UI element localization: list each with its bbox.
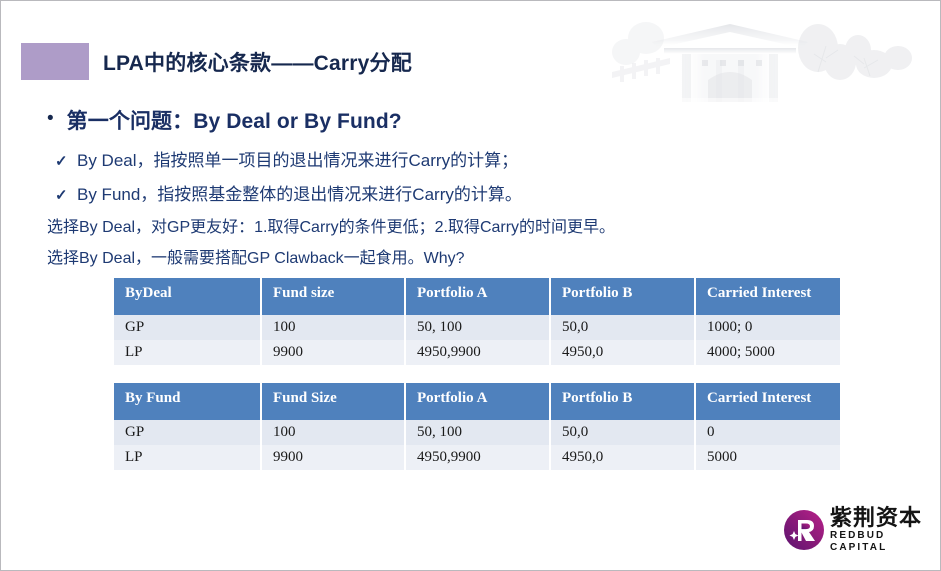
table-cell: 100 (261, 315, 405, 340)
brand-logo-text: 紫荆资本 REDBUD CAPITAL (830, 506, 934, 554)
column-header: Carried Interest (695, 278, 840, 315)
slide-canvas: LPA中的核心条款——Carry分配 • 第一个问题：By Deal or By… (0, 0, 941, 571)
table-row: LP 9900 4950,9900 4950,0 4000; 5000 (114, 340, 840, 365)
column-header: Fund Size (261, 383, 405, 420)
table-cell: 4950,0 (550, 445, 695, 470)
column-header: Portfolio B (550, 278, 695, 315)
table-header-row: ByDeal Fund size Portfolio A Portfolio B… (114, 278, 840, 315)
column-header: By Fund (114, 383, 261, 420)
byfund-table: By Fund Fund Size Portfolio A Portfolio … (114, 383, 840, 470)
table-cell: 9900 (261, 445, 405, 470)
check-icon: ✓ (55, 186, 77, 204)
table-cell: 50, 100 (405, 315, 550, 340)
table-cell: GP (114, 420, 261, 445)
table-cell: LP (114, 445, 261, 470)
table-cell: LP (114, 340, 261, 365)
section-heading: • 第一个问题：By Deal or By Fund? (47, 105, 402, 135)
table-row: LP 9900 4950,9900 4950,0 5000 (114, 445, 840, 470)
column-header: ByDeal (114, 278, 261, 315)
table-cell: 50,0 (550, 420, 695, 445)
table-cell: 50, 100 (405, 420, 550, 445)
column-header: Portfolio A (405, 383, 550, 420)
list-item-label: By Fund，指按照基金整体的退出情况来进行Carry的计算。 (77, 180, 522, 205)
brand-logo: 紫荆资本 REDBUD CAPITAL (782, 506, 934, 554)
brand-name-cn: 紫荆资本 (830, 506, 934, 529)
table-cell: 4950,0 (550, 340, 695, 365)
list-item-label: By Deal，指按照单一项目的退出情况来进行Carry的计算； (77, 146, 518, 171)
slide-content-area: LPA中的核心条款——Carry分配 • 第一个问题：By Deal or By… (7, 6, 936, 565)
table-row: GP 100 50, 100 50,0 1000; 0 (114, 315, 840, 340)
column-header: Portfolio A (405, 278, 550, 315)
redbud-emblem-icon (782, 508, 826, 552)
body-line: 选择By Deal，一般需要搭配GP Clawback一起食用。Why? (47, 244, 465, 268)
check-icon: ✓ (55, 152, 77, 170)
bullet-dot-icon: • (47, 109, 54, 128)
table-cell: 0 (695, 420, 840, 445)
column-header: Carried Interest (695, 383, 840, 420)
brand-name-en: REDBUD CAPITAL (830, 530, 934, 554)
table-cell: 4000; 5000 (695, 340, 840, 365)
campus-gate-watermark-icon (612, 6, 936, 122)
body-line: 选择By Deal，对GP更友好：1.取得Carry的条件更低；2.取得Carr… (47, 213, 615, 237)
section-heading-label: 第一个问题：By Deal or By Fund? (67, 105, 402, 135)
column-header: Portfolio B (550, 383, 695, 420)
list-item: ✓ By Fund，指按照基金整体的退出情况来进行Carry的计算。 (55, 180, 522, 205)
table-cell: 50,0 (550, 315, 695, 340)
table-cell: 100 (261, 420, 405, 445)
table-cell: 5000 (695, 445, 840, 470)
table-cell: 1000; 0 (695, 315, 840, 340)
table-cell: GP (114, 315, 261, 340)
title-accent-swatch (21, 43, 89, 80)
list-item: ✓ By Deal，指按照单一项目的退出情况来进行Carry的计算； (55, 146, 518, 171)
bydeal-table: ByDeal Fund size Portfolio A Portfolio B… (114, 278, 840, 365)
table-cell: 4950,9900 (405, 445, 550, 470)
table-cell: 9900 (261, 340, 405, 365)
column-header: Fund size (261, 278, 405, 315)
table-row: GP 100 50, 100 50,0 0 (114, 420, 840, 445)
table-cell: 4950,9900 (405, 340, 550, 365)
table-header-row: By Fund Fund Size Portfolio A Portfolio … (114, 383, 840, 420)
page-title: LPA中的核心条款——Carry分配 (103, 47, 412, 77)
